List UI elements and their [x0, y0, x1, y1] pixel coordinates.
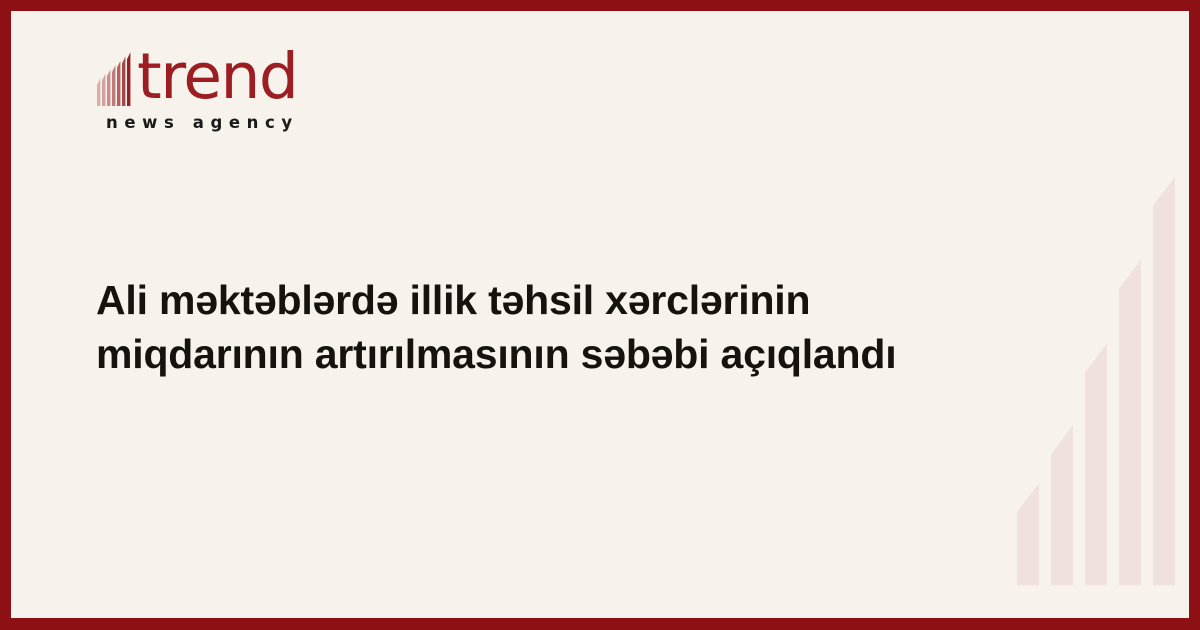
ascending-bars-graphic [999, 11, 1189, 618]
headline: Ali məktəblərdə illik təhsil xərclərinin… [96, 273, 996, 381]
logo-tagline: news agency [106, 113, 396, 132]
site-logo[interactable]: trend news agency [96, 44, 396, 132]
share-card: trend news agency Ali məktəblərdə illik … [0, 0, 1200, 630]
trend-bars-mark-icon [96, 48, 136, 106]
logo-wordmark: trend [137, 48, 297, 106]
logo-row: trend [96, 44, 396, 106]
